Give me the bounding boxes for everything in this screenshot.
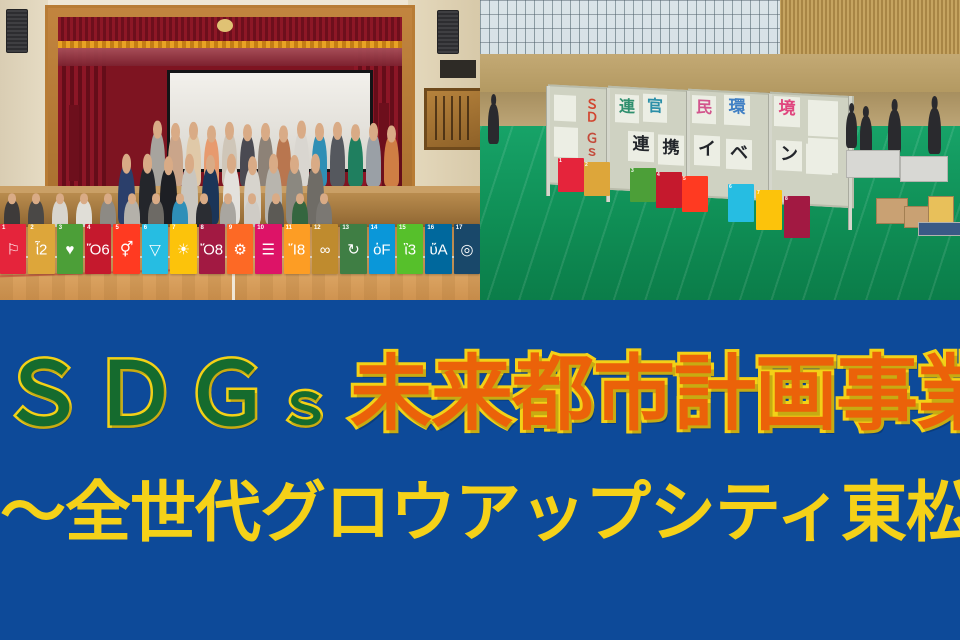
sdg-goal-number: 5 (115, 225, 118, 231)
sdg-goal-panel: 1⚐ (0, 224, 26, 274)
calligraphy-plaque (424, 88, 480, 150)
banner-subtitle: ～全世代グロウアップシティ東松島～ (0, 480, 960, 546)
sdg-goal-panel: 6 (728, 184, 754, 222)
sdgs-future-city-banner: 1⚐2ἷ23♥4Ὅ65⚥6▽7☀8Ὄ89⚙10☰11Ἵ812∞13↻14ὁF15… (0, 0, 960, 640)
sdg-goal-number: 10 (257, 225, 264, 231)
sdg-goal-icon: ⚥ (120, 243, 134, 258)
sdg-goal-number: 4 (657, 172, 660, 178)
sdg-goal-panel: 4 (656, 172, 682, 208)
title-japanese: 未来都市計画事業 (350, 347, 960, 442)
sdg-goal-number: 12 (314, 225, 321, 231)
cardboard-box (928, 196, 954, 224)
display-board: 境 ン ト (770, 92, 854, 208)
sdg-goal-number: 16 (427, 225, 434, 231)
curtain-valance (58, 48, 402, 66)
sdg-goal-panel: 11Ἵ8 (284, 224, 310, 274)
sdg-goal-panel: 2ἷ2 (28, 224, 54, 274)
sdg-goal-icon: ↻ (347, 243, 360, 258)
sdg-goal-icon: Ὅ6 (87, 243, 110, 258)
sdg-goal-number: 6 (144, 225, 147, 231)
sdg-goal-panel: 7 (756, 190, 782, 230)
sdg-goal-number: 3 (631, 168, 634, 174)
sdg-goal-panel: 12∞ (312, 224, 338, 274)
sdg-goal-icon: ⚐ (6, 243, 19, 258)
sdg-goal-number: 6 (729, 184, 732, 190)
speaker-icon (437, 10, 459, 54)
sdg-goal-icon: Ὄ8 (200, 243, 223, 258)
sdg-goal-number: 8 (785, 196, 788, 202)
sdg-goal-panel: 5⚥ (113, 224, 139, 274)
title-acronym: ＳＤＧｓ (0, 347, 340, 443)
photo-strip: 1⚐2ἷ23♥4Ὅ65⚥6▽7☀8Ὄ89⚙10☰11Ἵ812∞13↻14ὁF15… (0, 0, 960, 300)
attendee (888, 110, 901, 154)
sdg-goal-number: 8 (201, 225, 204, 231)
sdg-goal-panel: 7☀ (170, 224, 196, 274)
sdg-goal-panel: 4Ὅ6 (85, 224, 111, 274)
sdg-goal-number: 1 (559, 158, 562, 164)
vertical-banner-left (69, 105, 79, 181)
sdg-panel-row: 1⚐2ἷ23♥4Ὅ65⚥6▽7☀8Ὄ89⚙10☰11Ἵ812∞13↻14ὁF15… (0, 224, 480, 274)
sdg-goal-number: 2 (30, 225, 33, 231)
sdg-goal-number: 13 (342, 225, 349, 231)
sdg-goal-panel: 13↻ (340, 224, 366, 274)
sdg-goal-icon: ὁF (373, 243, 391, 258)
photo-community-event-display: ＳＤ Ｇｓ 連 官 連 携 民 環 イ (480, 0, 960, 300)
exhibit-table (900, 156, 948, 182)
sdg-goal-panel: 1 (558, 158, 584, 192)
sdg-goal-icon: ⚙ (233, 243, 246, 258)
sdg-goal-panel: 2 (584, 162, 610, 196)
sdg-goal-number: 17 (456, 225, 463, 231)
sdg-goal-number: 7 (757, 190, 760, 196)
sdg-goal-panel: 5 (682, 176, 708, 212)
sdg-goal-number: 11 (286, 225, 292, 231)
sdg-goal-number: 5 (683, 176, 686, 182)
sdg-goal-icon: ∞ (320, 243, 331, 258)
curtain-gold-trim (58, 41, 402, 48)
sdg-goal-number: 3 (59, 225, 62, 231)
attendee (928, 108, 941, 154)
sdg-goal-icon: Ἵ8 (288, 243, 305, 258)
sdg-goal-icon: ὔA (429, 243, 447, 258)
sdg-goal-number: 1 (2, 225, 5, 231)
photo-school-gymnasium-group: 1⚐2ἷ23♥4Ὅ65⚥6▽7☀8Ὄ89⚙10☰11Ἵ812∞13↻14ὁF15… (0, 0, 480, 300)
sdg-goal-panel: 16ὔA (425, 224, 451, 274)
sdg-goal-panel: 8Ὄ8 (199, 224, 225, 274)
sdg-goal-number: 7 (172, 225, 175, 231)
sdg-goal-panel: 8 (784, 196, 810, 238)
attendee (860, 116, 872, 154)
sdg-goal-panel: 10☰ (255, 224, 281, 274)
exhibit-table (846, 150, 900, 178)
sdg-goal-number: 2 (585, 162, 588, 168)
sdg-goal-panel: 6▽ (142, 224, 168, 274)
speaker-icon (6, 9, 28, 53)
sdg-goal-panel: 9⚙ (227, 224, 253, 274)
sdg-goal-panel: 17◎ (454, 224, 480, 274)
attendee (846, 112, 857, 148)
attendee (488, 104, 499, 144)
sdg-goal-panel: 3♥ (57, 224, 83, 274)
window-mullions (480, 0, 780, 56)
equipment-cart (918, 222, 960, 236)
sdg-goal-number: 9 (229, 225, 232, 231)
banner-title: ＳＤＧｓ未来都市計画事業 (0, 352, 960, 438)
sdg-goal-number: 4 (87, 225, 90, 231)
sdg-goal-number: 15 (399, 225, 406, 231)
sdg-goal-panel: 3 (630, 168, 656, 202)
sdg-goal-icon: ἷ2 (36, 243, 48, 258)
sdg-goal-number: 14 (371, 225, 378, 231)
sdg-goal-icon: ἳ3 (404, 243, 416, 258)
sdg-goal-icon: ◎ (460, 243, 473, 258)
sdg-goal-icon: ▽ (149, 243, 161, 258)
sdg-goal-icon: ☰ (262, 243, 275, 258)
sdg-goal-panel: 15ἳ3 (397, 224, 423, 274)
wall-sign (440, 60, 476, 78)
school-crest-icon (217, 19, 233, 32)
sdg-goal-icon: ☀ (177, 243, 190, 258)
sdg-goal-panel: 14ὁF (369, 224, 395, 274)
sdg-goal-icon: ♥ (65, 243, 74, 258)
